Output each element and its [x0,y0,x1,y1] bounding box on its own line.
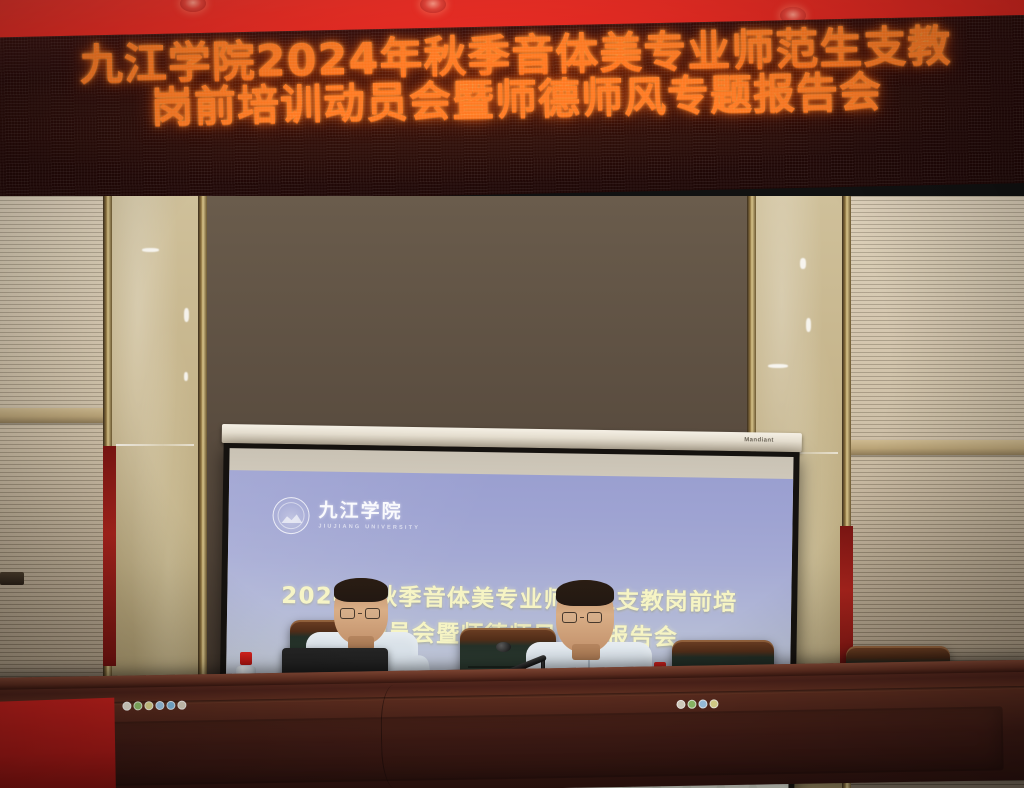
person-left-hair [334,578,388,602]
table-stickers-left [122,701,186,711]
red-side-panel [0,698,116,788]
red-wall-strip-left [103,446,116,666]
ceiling-downlight [180,0,206,12]
table-front-panel [19,706,1004,787]
marble-highlight [184,372,188,381]
bottle-cap [240,652,253,665]
marble-highlight [806,318,811,332]
person-center-neck [572,644,600,660]
table-stickers-right [676,699,718,709]
logo-chinese-name: 九江学院 [318,502,420,523]
marble-highlight [142,248,159,252]
sticker-icon [687,700,696,709]
conference-table [0,660,1024,788]
person-center-glasses-icon [562,612,602,623]
sticker-icon [698,699,707,708]
sticker-icon [122,702,131,711]
back-wall: Mandiant [0,196,1024,788]
university-logo: 九江学院 JIUJIANG UNIVERSITY [272,497,420,536]
table-cable [380,685,416,788]
university-crest-icon [272,497,310,535]
sticker-icon [676,700,685,709]
sticker-icon [166,701,175,710]
sticker-icon [155,701,164,710]
marble-highlight [800,258,806,269]
sticker-icon [144,701,153,710]
sticker-icon [177,701,186,710]
sticker-icon [709,699,718,708]
marble-highlight [184,308,189,322]
wall-fixture-left [0,572,24,585]
led-banner: 九江学院2024年秋季音体美专业师范生支教 岗前培训动员会暨师德师风专题报告会 [0,14,1024,206]
person-center-hair [556,580,614,606]
screen-brand-label: Mandiant [744,437,774,443]
logo-english-name: JIUJIANG UNIVERSITY [318,525,420,532]
sticker-icon [133,701,142,710]
conference-hall-photo: 九江学院2024年秋季音体美专业师范生支教 岗前培训动员会暨师德师风专题报告会 [0,0,1024,788]
marble-highlight [768,364,788,368]
ceiling-downlight [420,0,446,13]
person-left-glasses-icon [340,608,380,619]
